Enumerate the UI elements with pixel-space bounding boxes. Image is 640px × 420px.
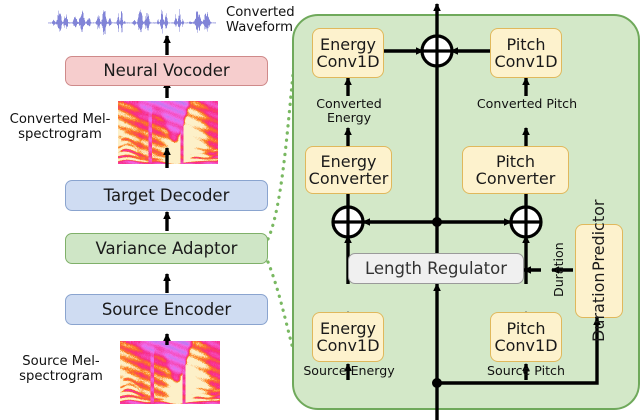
module-duration-predictor[interactable]: Duration Predictor	[575, 224, 623, 318]
module-energy-conv1d-top-line1: Energy	[316, 36, 379, 53]
length-regulator-block[interactable]: Length Regulator	[348, 253, 524, 284]
module-energy-converter-line1: Energy	[309, 153, 389, 170]
module-duration-predictor-line2: Predictor	[590, 200, 607, 271]
module-pitch-conv1d-top-line2: Conv1D	[494, 53, 557, 70]
module-pitch-conv1d-top-line1: Pitch	[494, 36, 557, 53]
module-energy-converter-line2: Converter	[309, 170, 389, 187]
adder-energy-icon	[333, 207, 363, 237]
module-pitch-converter-line2: Converter	[476, 170, 556, 187]
module-pitch-conv1d-bottom[interactable]: Pitch Conv1D	[490, 312, 562, 362]
module-pitch-conv1d-top[interactable]: Pitch Conv1D	[490, 28, 562, 78]
module-duration-predictor-line1: Duration	[590, 273, 607, 343]
module-energy-conv1d-top-line2: Conv1D	[316, 53, 379, 70]
converted-pitch-text: Converted Pitch	[477, 96, 577, 111]
converted-energy-text: Converted Energy	[316, 96, 382, 125]
signal-label-duration: Duration	[552, 232, 568, 308]
source-pitch-text: Source Pitch	[487, 363, 565, 378]
module-energy-conv1d-bottom-line1: Energy	[316, 320, 379, 337]
module-energy-conv1d-bottom[interactable]: Energy Conv1D	[312, 312, 384, 362]
module-pitch-converter-line1: Pitch	[476, 153, 556, 170]
signal-label-converted-pitch: Converted Pitch	[475, 97, 579, 111]
junction-dot-bottom	[432, 378, 442, 388]
module-energy-conv1d-top[interactable]: Energy Conv1D	[312, 28, 384, 78]
signal-label-source-energy: Source Energy	[300, 364, 398, 378]
adder-top-icon	[422, 36, 452, 66]
duration-text: Duration	[551, 243, 566, 298]
module-energy-conv1d-bottom-line2: Conv1D	[316, 337, 379, 354]
length-regulator-label: Length Regulator	[365, 260, 507, 278]
signal-label-converted-energy: Converted Energy	[296, 97, 402, 125]
module-pitch-converter[interactable]: Pitch Converter	[462, 146, 569, 194]
junction-dot-mid	[432, 217, 442, 227]
signal-label-source-pitch: Source Pitch	[480, 364, 572, 378]
module-pitch-conv1d-bottom-line1: Pitch	[494, 320, 557, 337]
diagram-canvas: Neural Vocoder Target Decoder Variance A…	[0, 0, 640, 420]
source-energy-text: Source Energy	[303, 363, 394, 378]
adder-pitch-icon	[511, 207, 541, 237]
module-energy-converter[interactable]: Energy Converter	[305, 146, 392, 194]
module-pitch-conv1d-bottom-line2: Conv1D	[494, 337, 557, 354]
